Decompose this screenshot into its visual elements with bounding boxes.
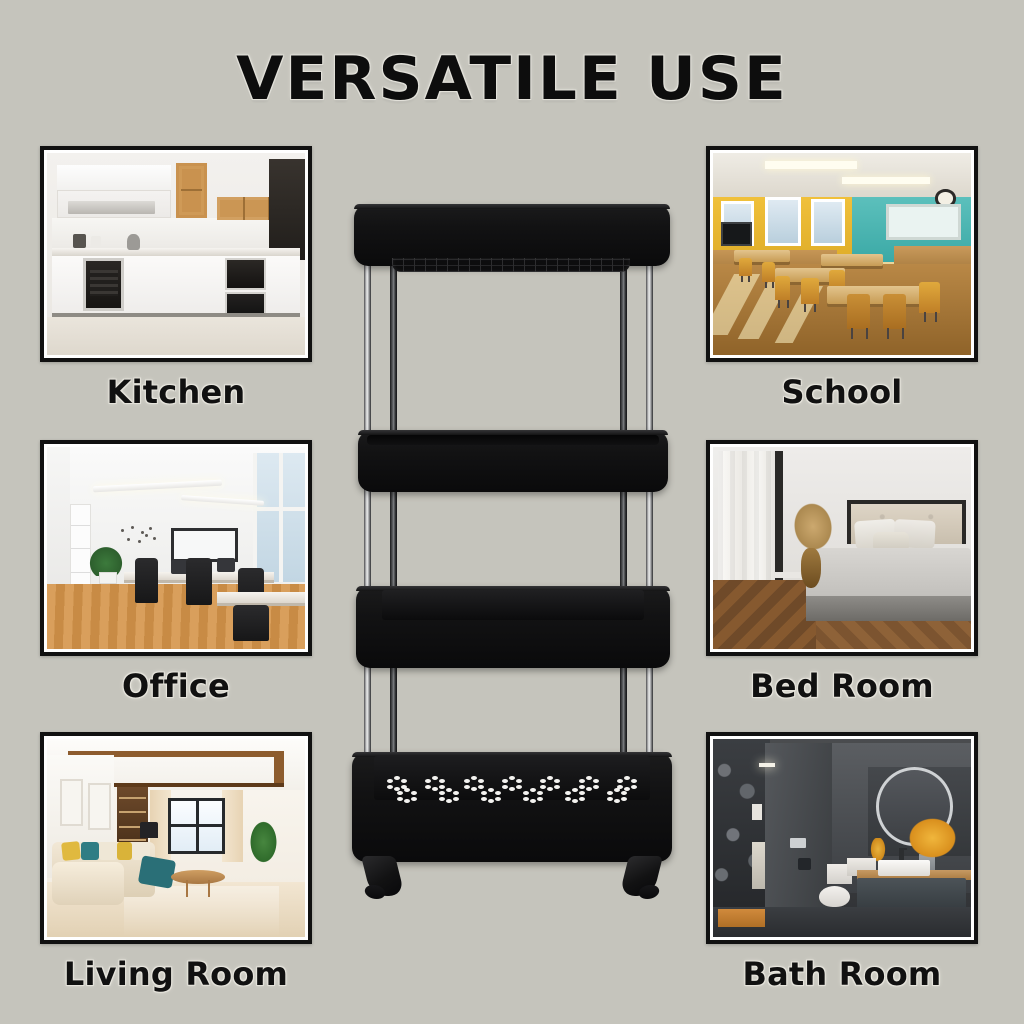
photo-frame-school [706,146,978,362]
cart-tier-2 [358,430,668,492]
cart-drainage-holes-row-2 [396,788,628,803]
use-case-label-bedroom: Bed Room [706,667,978,705]
use-case-office[interactable]: Office [40,440,312,705]
photo-frame-bedroom [706,440,978,656]
cart-tier-1 [354,204,670,266]
photo-frame-bathroom [706,732,978,944]
photo-frame-office [40,440,312,656]
use-case-label-school: School [706,373,978,411]
cart-tier-3 [356,586,670,668]
cart-caster-left [361,856,405,896]
use-case-label-office: Office [40,667,312,705]
use-case-school[interactable]: School [706,146,978,411]
use-case-bathroom[interactable]: Bath Room [706,732,978,993]
photo-frame-livingroom [40,732,312,944]
photo-school [713,153,971,355]
cart-mesh-shelf [392,258,630,272]
use-case-label-kitchen: Kitchen [40,373,312,411]
photo-bathroom [713,739,971,937]
photo-bedroom [713,447,971,649]
use-case-livingroom[interactable]: Living Room [40,732,312,993]
photo-livingroom [47,739,305,937]
cart-tier-4 [352,752,672,862]
cart-caster-right [619,856,663,896]
photo-kitchen [47,153,305,355]
use-case-bedroom[interactable]: Bed Room [706,440,978,705]
product-image-rolling-cart [348,196,676,912]
use-case-label-bathroom: Bath Room [706,955,978,993]
photo-frame-kitchen [40,146,312,362]
page-title: VERSATILE USE [0,44,1024,114]
use-case-label-livingroom: Living Room [40,955,312,993]
use-case-kitchen[interactable]: Kitchen [40,146,312,411]
photo-office [47,447,305,649]
